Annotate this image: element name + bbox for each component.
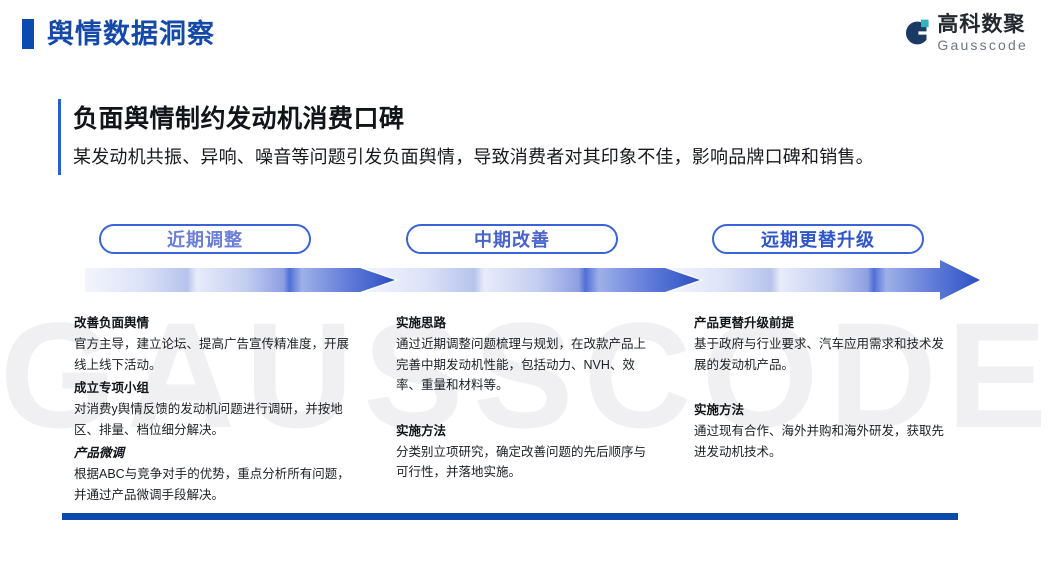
logo-cn-label: 高科数聚 bbox=[937, 14, 1028, 35]
slide-header: 舆情数据洞察 bbox=[0, 0, 1050, 70]
block-heading: 改善负面舆情 bbox=[74, 313, 352, 333]
block-spacer bbox=[694, 378, 954, 400]
content-block: 实施思路 通过近期调整问题梳理与规划，在改款产品上完善中期发动机性能，包括动力、… bbox=[396, 313, 658, 396]
column-mid-term: 实施思路 通过近期调整问题梳理与规划，在改款产品上完善中期发动机性能，包括动力、… bbox=[396, 313, 658, 486]
gausscode-logo-mark-icon bbox=[900, 18, 930, 48]
brand-logo: 高科数聚 Gausscode bbox=[900, 14, 1028, 52]
column-long-term: 产品更替升级前提 基于政府与行业要求、汽车应用需求和技术发展的发动机产品。 实施… bbox=[694, 313, 954, 465]
logo-en-label: Gausscode bbox=[937, 38, 1028, 52]
content-block: 产品更替升级前提 基于政府与行业要求、汽车应用需求和技术发展的发动机产品。 bbox=[694, 313, 954, 375]
block-body: 通过近期调整问题梳理与规划，在改款产品上完善中期发动机性能，包括动力、NVH、效… bbox=[396, 334, 658, 396]
block-body: 通过现有合作、海外并购和海外研发，获取先进发动机技术。 bbox=[694, 421, 954, 462]
stage-pill-near-term[interactable]: 近期调整 bbox=[99, 224, 311, 254]
block-spacer bbox=[396, 399, 658, 421]
content-block: 改善负面舆情 官方主导，建立论坛、提高广告宣传精准度，开展线上线下活动。 bbox=[74, 313, 352, 375]
block-heading: 实施方法 bbox=[396, 421, 658, 441]
block-heading: 成立专项小组 bbox=[74, 378, 352, 398]
block-body: 官方主导，建立论坛、提高广告宣传精准度，开展线上线下活动。 bbox=[74, 334, 352, 375]
slide-root: GAUSSCODE 舆情数据洞察 高科数聚 Gausscode 负面舆情制约发动… bbox=[0, 0, 1050, 588]
block-heading: 实施思路 bbox=[396, 313, 658, 333]
header-marker-icon bbox=[22, 19, 34, 49]
logo-text: 高科数聚 Gausscode bbox=[937, 14, 1028, 52]
hero-subtitle: 某发动机共振、异响、噪音等问题引发负面舆情，导致消费者对其印象不佳，影响品牌口碑… bbox=[73, 143, 874, 169]
content-block: 成立专项小组 对消费y舆情反馈的发动机问题进行调研，并按地区、排量、档位细分解决… bbox=[74, 378, 352, 440]
timeline-arrow-icon bbox=[85, 260, 980, 300]
block-heading: 产品更替升级前提 bbox=[694, 313, 954, 333]
block-heading: 实施方法 bbox=[694, 400, 954, 420]
column-near-term: 改善负面舆情 官方主导，建立论坛、提高广告宣传精准度，开展线上线下活动。 成立专… bbox=[74, 313, 352, 508]
footer-bar bbox=[62, 513, 958, 520]
stage-pill-mid-term[interactable]: 中期改善 bbox=[406, 224, 618, 254]
hero-title: 负面舆情制约发动机消费口碑 bbox=[73, 99, 405, 135]
content-block: 实施方法 通过现有合作、海外并购和海外研发，获取先进发动机技术。 bbox=[694, 400, 954, 462]
hero-accent-bar bbox=[58, 99, 61, 175]
block-body: 基于政府与行业要求、汽车应用需求和技术发展的发动机产品。 bbox=[694, 334, 954, 375]
content-block: 产品微调 根据ABC与竞争对手的优势，重点分析所有问题，并通过产品微调手段解决。 bbox=[74, 443, 352, 505]
block-body: 分类别立项研究，确定改善问题的先后顺序与可行性，并落地实施。 bbox=[396, 442, 658, 483]
page-title: 舆情数据洞察 bbox=[47, 14, 215, 54]
block-heading: 产品微调 bbox=[74, 443, 352, 463]
stage-pill-long-term[interactable]: 远期更替升级 bbox=[712, 224, 924, 254]
content-block: 实施方法 分类别立项研究，确定改善问题的先后顺序与可行性，并落地实施。 bbox=[396, 421, 658, 483]
block-body: 根据ABC与竞争对手的优势，重点分析所有问题，并通过产品微调手段解决。 bbox=[74, 464, 352, 505]
block-body: 对消费y舆情反馈的发动机问题进行调研，并按地区、排量、档位细分解决。 bbox=[74, 399, 352, 440]
